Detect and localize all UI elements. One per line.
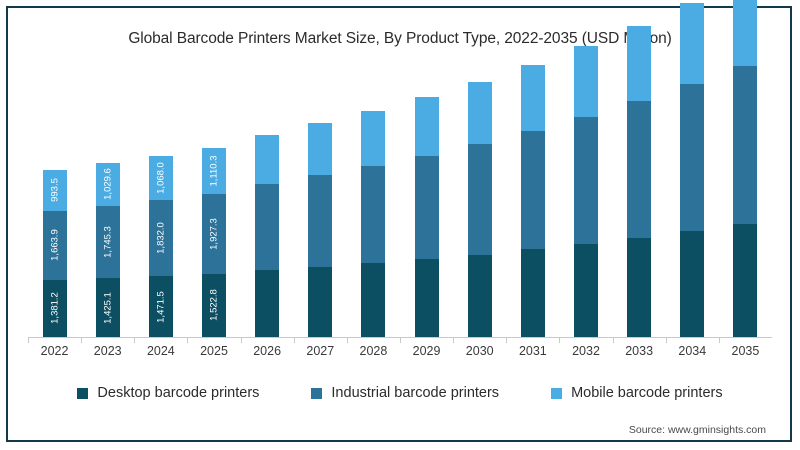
bar-segment-2026-industrial[interactable] bbox=[255, 184, 279, 270]
bar-segment-2026-mobile[interactable] bbox=[255, 135, 279, 184]
bar-2028[interactable] bbox=[361, 111, 385, 337]
bar-segment-2034-mobile[interactable] bbox=[680, 3, 704, 84]
x-axis-tick bbox=[506, 337, 507, 343]
x-axis-tick bbox=[81, 337, 82, 343]
bar-segment-2033-industrial[interactable] bbox=[627, 101, 651, 237]
bar-2027[interactable] bbox=[308, 123, 332, 337]
bar-value-label: 1,029.6 bbox=[102, 169, 113, 201]
x-tick-label-2028: 2028 bbox=[347, 344, 399, 358]
bar-2025[interactable]: 1,110.31,927.31,522.8 bbox=[202, 148, 226, 337]
x-tick-label-2025: 2025 bbox=[188, 344, 240, 358]
bar-segment-2031-industrial[interactable] bbox=[521, 131, 545, 249]
x-tick-label-2022: 2022 bbox=[29, 344, 81, 358]
bar-segment-2026-desktop[interactable] bbox=[255, 270, 279, 337]
x-axis-labels: 2022202320242025202620272028202920302031… bbox=[28, 344, 772, 364]
plot-area: 993.51,663.91,381.21,029.61,745.31,425.1… bbox=[28, 72, 772, 337]
bar-segment-2025-industrial[interactable]: 1,927.3 bbox=[202, 194, 226, 274]
legend-label: Desktop barcode printers bbox=[97, 385, 259, 401]
x-tick-label-2033: 2033 bbox=[613, 344, 665, 358]
bar-2023[interactable]: 1,029.61,745.31,425.1 bbox=[96, 163, 120, 337]
bar-segment-2029-industrial[interactable] bbox=[415, 156, 439, 260]
bar-segment-2031-desktop[interactable] bbox=[521, 249, 545, 337]
bar-segment-2023-desktop[interactable]: 1,425.1 bbox=[96, 278, 120, 337]
bar-value-label: 1,068.0 bbox=[155, 162, 166, 194]
bar-segment-2035-mobile[interactable] bbox=[733, 0, 757, 66]
bar-segment-2025-mobile[interactable]: 1,110.3 bbox=[202, 148, 226, 194]
bar-segment-2027-desktop[interactable] bbox=[308, 267, 332, 337]
bar-2024[interactable]: 1,068.01,832.01,471.5 bbox=[149, 156, 173, 337]
bar-segment-2022-desktop[interactable]: 1,381.2 bbox=[43, 280, 67, 337]
bar-segment-2030-mobile[interactable] bbox=[468, 82, 492, 144]
bar-value-label: 1,927.3 bbox=[209, 218, 220, 250]
legend-item-1[interactable]: Industrial barcode printers bbox=[311, 385, 499, 401]
bar-2029[interactable] bbox=[415, 97, 439, 337]
bar-segment-2030-desktop[interactable] bbox=[468, 255, 492, 337]
bar-segment-2022-mobile[interactable]: 993.5 bbox=[43, 170, 67, 211]
x-tick-label-2026: 2026 bbox=[241, 344, 293, 358]
bar-segment-2027-mobile[interactable] bbox=[308, 123, 332, 175]
x-axis-tick bbox=[347, 337, 348, 343]
x-axis-tick bbox=[134, 337, 135, 343]
legend-label: Mobile barcode printers bbox=[571, 385, 723, 401]
bar-2022[interactable]: 993.51,663.91,381.2 bbox=[43, 170, 67, 337]
x-axis-tick bbox=[241, 337, 242, 343]
bar-segment-2029-desktop[interactable] bbox=[415, 259, 439, 337]
x-tick-label-2032: 2032 bbox=[560, 344, 612, 358]
legend-swatch-icon bbox=[311, 388, 322, 399]
bar-segment-2035-desktop[interactable] bbox=[733, 224, 757, 337]
bar-segment-2024-mobile[interactable]: 1,068.0 bbox=[149, 156, 173, 200]
bar-2035[interactable] bbox=[733, 0, 757, 337]
bar-2034[interactable] bbox=[680, 3, 704, 337]
bar-segment-2023-industrial[interactable]: 1,745.3 bbox=[96, 206, 120, 278]
bar-value-label: 993.5 bbox=[49, 178, 60, 202]
bar-segment-2033-mobile[interactable] bbox=[627, 26, 651, 102]
bar-value-label: 1,110.3 bbox=[209, 156, 220, 187]
bar-value-label: 1,832.0 bbox=[155, 222, 166, 254]
x-axis-tick bbox=[559, 337, 560, 343]
bar-segment-2030-industrial[interactable] bbox=[468, 144, 492, 255]
bar-segment-2024-desktop[interactable]: 1,471.5 bbox=[149, 276, 173, 337]
bar-2026[interactable] bbox=[255, 135, 279, 337]
bar-2030[interactable] bbox=[468, 82, 492, 337]
bar-value-label: 1,745.3 bbox=[102, 226, 113, 258]
bar-segment-2032-industrial[interactable] bbox=[574, 117, 598, 244]
bar-segment-2028-mobile[interactable] bbox=[361, 111, 385, 166]
bar-segment-2033-desktop[interactable] bbox=[627, 238, 651, 337]
bar-segment-2032-desktop[interactable] bbox=[574, 244, 598, 337]
bar-value-label: 1,425.1 bbox=[102, 292, 113, 324]
bar-2033[interactable] bbox=[627, 26, 651, 337]
x-axis-tick bbox=[187, 337, 188, 343]
bar-segment-2024-industrial[interactable]: 1,832.0 bbox=[149, 200, 173, 276]
x-tick-label-2023: 2023 bbox=[82, 344, 134, 358]
bar-value-label: 1,663.9 bbox=[49, 230, 60, 262]
x-tick-label-2027: 2027 bbox=[294, 344, 346, 358]
bar-segment-2034-desktop[interactable] bbox=[680, 231, 704, 337]
bar-segment-2029-mobile[interactable] bbox=[415, 97, 439, 155]
x-tick-label-2030: 2030 bbox=[454, 344, 506, 358]
x-axis-tick bbox=[613, 337, 614, 343]
bar-segment-2028-desktop[interactable] bbox=[361, 263, 385, 337]
bar-value-label: 1,522.8 bbox=[209, 290, 220, 322]
bar-2032[interactable] bbox=[574, 46, 598, 337]
legend-swatch-icon bbox=[77, 388, 88, 399]
chart-legend: Desktop barcode printersIndustrial barco… bbox=[0, 385, 800, 401]
bar-segment-2028-industrial[interactable] bbox=[361, 166, 385, 263]
bar-value-label: 1,381.2 bbox=[49, 293, 60, 325]
x-tick-label-2034: 2034 bbox=[666, 344, 718, 358]
bar-segment-2032-mobile[interactable] bbox=[574, 46, 598, 117]
bar-2031[interactable] bbox=[521, 65, 545, 337]
bar-segment-2035-industrial[interactable] bbox=[733, 66, 757, 224]
legend-swatch-icon bbox=[551, 388, 562, 399]
x-axis-tick bbox=[453, 337, 454, 343]
bar-segment-2023-mobile[interactable]: 1,029.6 bbox=[96, 163, 120, 206]
x-axis-tick bbox=[400, 337, 401, 343]
legend-item-2[interactable]: Mobile barcode printers bbox=[551, 385, 723, 401]
legend-item-0[interactable]: Desktop barcode printers bbox=[77, 385, 259, 401]
x-axis-tick bbox=[719, 337, 720, 343]
source-attribution: Source: www.gminsights.com bbox=[629, 424, 766, 436]
bar-segment-2034-industrial[interactable] bbox=[680, 84, 704, 231]
bar-segment-2027-industrial[interactable] bbox=[308, 175, 332, 267]
bar-value-label: 1,471.5 bbox=[155, 291, 166, 323]
legend-label: Industrial barcode printers bbox=[331, 385, 499, 401]
x-tick-label-2031: 2031 bbox=[507, 344, 559, 358]
x-tick-label-2024: 2024 bbox=[135, 344, 187, 358]
x-tick-label-2029: 2029 bbox=[401, 344, 453, 358]
x-axis-tick bbox=[28, 337, 29, 343]
x-tick-label-2035: 2035 bbox=[719, 344, 771, 358]
x-axis-tick bbox=[666, 337, 667, 343]
bar-segment-2031-mobile[interactable] bbox=[521, 65, 545, 131]
x-axis-tick bbox=[294, 337, 295, 343]
bar-segment-2025-desktop[interactable]: 1,522.8 bbox=[202, 274, 226, 337]
bar-segment-2022-industrial[interactable]: 1,663.9 bbox=[43, 211, 67, 280]
